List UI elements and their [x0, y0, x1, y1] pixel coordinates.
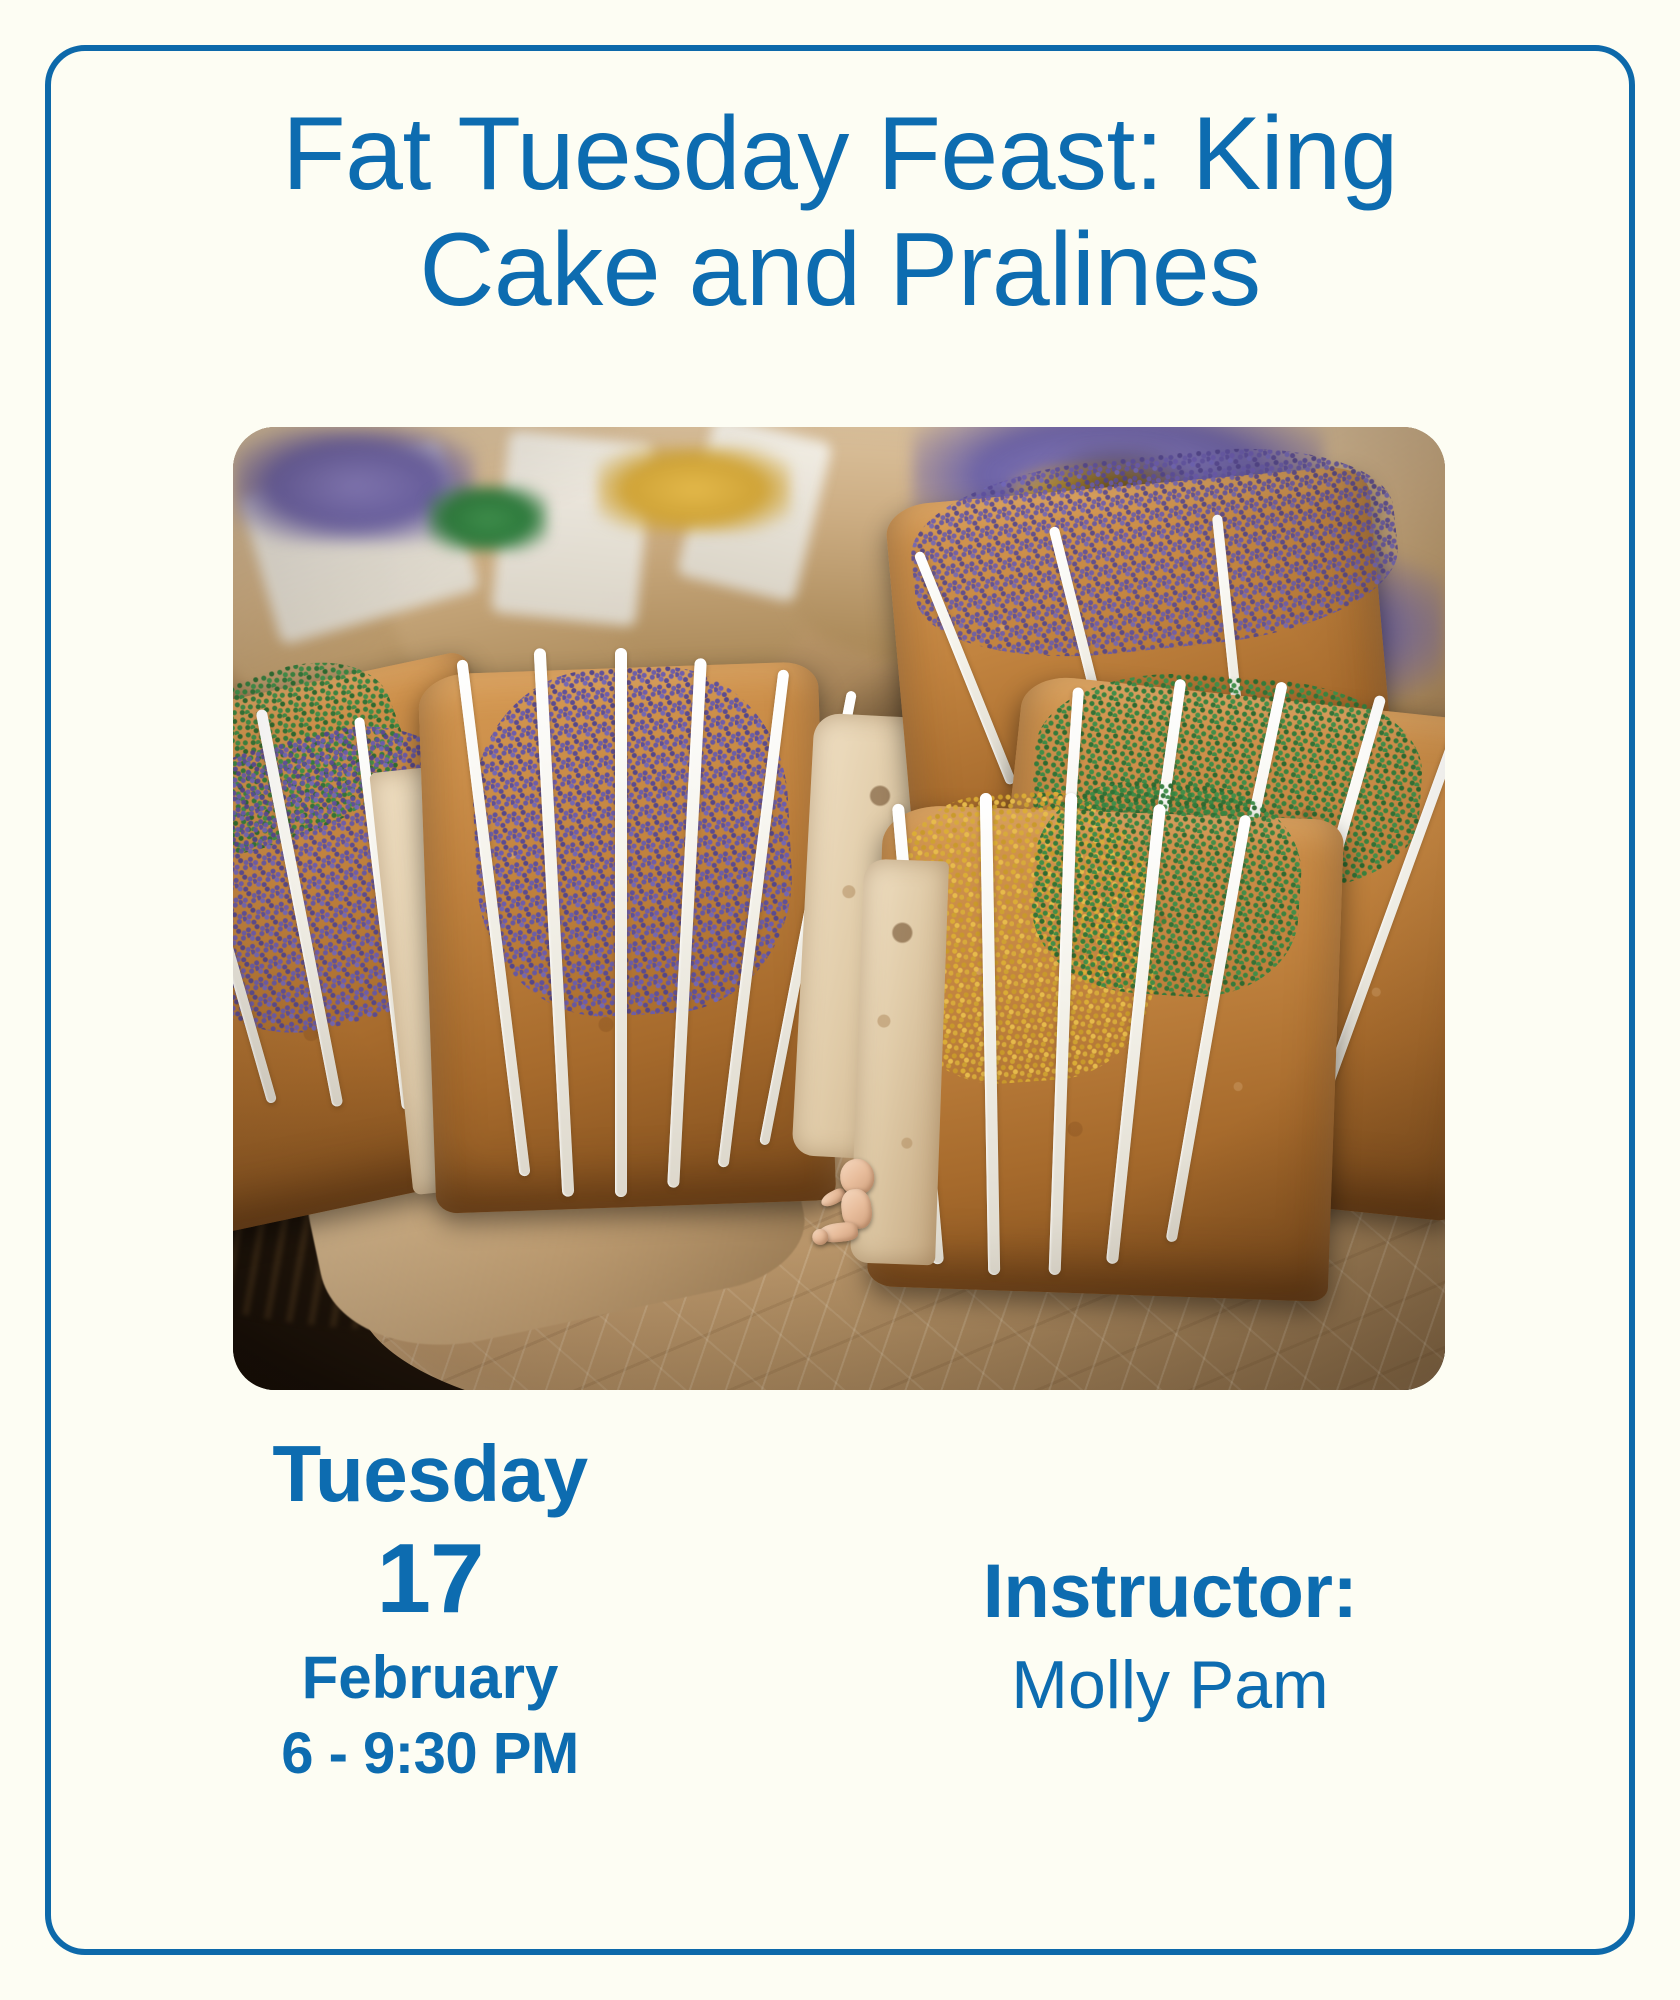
event-weekday: Tuesday: [150, 1432, 710, 1516]
page-title: Fat Tuesday Feast: King Cake and Praline…: [110, 96, 1570, 329]
event-poster: Fat Tuesday Feast: King Cake and Praline…: [0, 0, 1680, 2000]
instructor-block: Instructor: Molly Pam: [810, 1550, 1530, 1736]
date-block: Tuesday 17 February 6 - 9:30 PM: [150, 1432, 710, 1792]
instructor-label: Instructor:: [810, 1550, 1530, 1634]
king-cake-baby-figurine: [816, 1155, 895, 1252]
king-cake-photo-canvas: [233, 427, 1445, 1390]
event-month: February: [150, 1641, 710, 1714]
title-line-2: Cake and Pralines: [110, 212, 1570, 328]
event-day-number: 17: [150, 1516, 710, 1641]
instructor-name: Molly Pam: [810, 1634, 1530, 1736]
king-cake-photo: [233, 427, 1445, 1390]
title-line-1: Fat Tuesday Feast: King: [110, 96, 1570, 212]
event-time: 6 - 9:30 PM: [150, 1715, 710, 1793]
event-details: Tuesday 17 February 6 - 9:30 PM Instruct…: [110, 1432, 1570, 1892]
